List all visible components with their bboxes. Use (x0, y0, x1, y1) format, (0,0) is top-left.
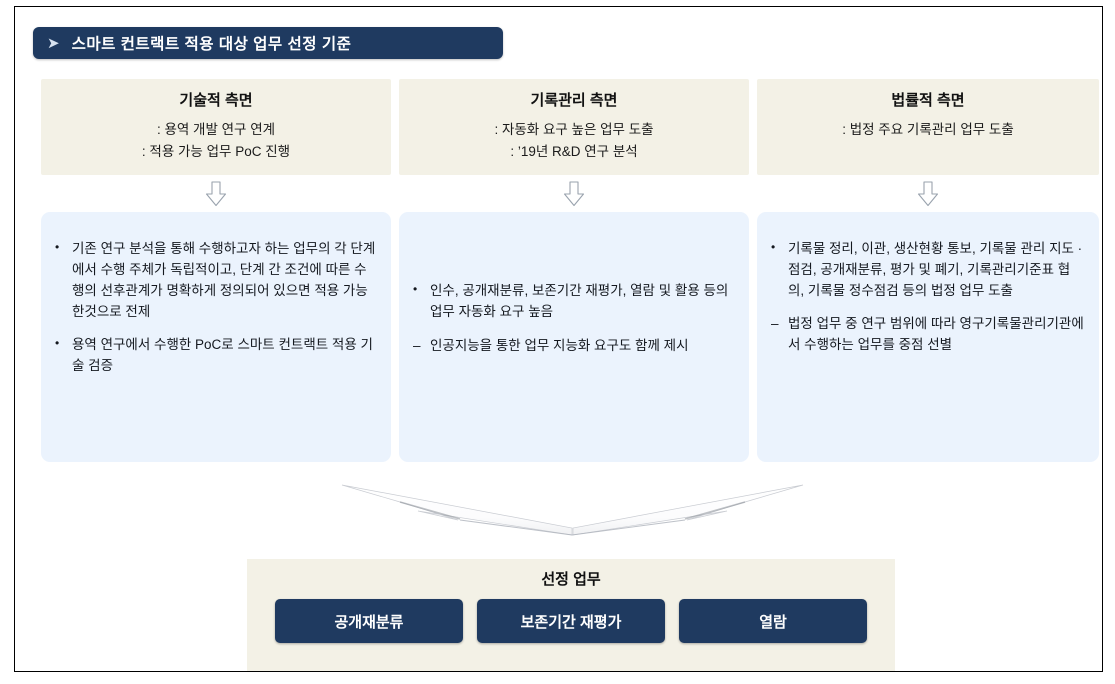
criteria-content-technical: • 기존 연구 분석을 통해 수행하고자 하는 업무의 각 단계에서 수행 주체… (41, 212, 391, 462)
selected-tasks-buttons: 공개재분류 보존기간 재평가 열람 (247, 599, 895, 643)
dash-icon: – (413, 335, 430, 356)
task-button-access[interactable]: 열람 (679, 599, 867, 643)
slide-frame: ➤ 스마트 컨트랙트 적용 대상 업무 선정 기준 기술적 측면 : 용역 개발… (14, 6, 1103, 672)
bullet-icon: • (771, 238, 788, 301)
task-button-retention-reevaluation[interactable]: 보존기간 재평가 (477, 599, 665, 643)
criteria-content-legal: • 기록물 정리, 이관, 생산현황 통보, 기록물 관리 지도 · 점검, 공… (757, 212, 1099, 462)
bullet-icon: • (55, 238, 72, 322)
criteria-line: : 자동화 요구 높은 업무 도출 (494, 119, 653, 141)
criteria-line: : 법정 주요 기록관리 업무 도출 (842, 119, 1014, 141)
bullet-icon: • (413, 280, 430, 322)
criteria-line: : 적용 가능 업무 PoC 진행 (142, 141, 290, 163)
criteria-title: 기술적 측면 (179, 89, 252, 110)
criteria-content-records: • 인수, 공개재분류, 보존기간 재평가, 열람 및 활용 등의 업무 자동화… (399, 212, 749, 462)
criteria-arrow-row (41, 179, 1099, 209)
criteria-header-legal: 법률적 측면 : 법정 주요 기록관리 업무 도출 (757, 79, 1099, 175)
list-item-text: 인수, 공개재분류, 보존기간 재평가, 열람 및 활용 등의 업무 자동화 요… (430, 280, 735, 322)
wide-chevron-down-icon (340, 479, 805, 541)
bullet-icon: • (55, 334, 72, 376)
triangle-right-icon: ➤ (47, 36, 60, 51)
selected-tasks-panel: 선정 업무 공개재분류 보존기간 재평가 열람 (247, 559, 895, 671)
criteria-title: 기록관리 측면 (531, 89, 618, 110)
criteria-line: : ’19년 R&D 연구 분석 (510, 141, 637, 163)
list-item-text: 법정 업무 중 연구 범위에 따라 영구기록물관리기관에서 수행하는 업무를 중… (788, 313, 1085, 355)
list-item: • 인수, 공개재분류, 보존기간 재평가, 열람 및 활용 등의 업무 자동화… (413, 280, 735, 322)
list-item: • 기록물 정리, 이관, 생산현황 통보, 기록물 관리 지도 · 점검, 공… (771, 238, 1085, 301)
list-item: – 인공지능을 통한 업무 지능화 요구도 함께 제시 (413, 335, 735, 356)
list-item-text: 인공지능을 통한 업무 지능화 요구도 함께 제시 (430, 335, 735, 356)
slide-title: 스마트 컨트랙트 적용 대상 업무 선정 기준 (72, 32, 352, 54)
criteria-header-technical: 기술적 측면 : 용역 개발 연구 연계 : 적용 가능 업무 PoC 진행 (41, 79, 391, 175)
criteria-header-records: 기록관리 측면 : 자동화 요구 높은 업무 도출 : ’19년 R&D 연구 … (399, 79, 749, 175)
list-item-text: 용역 연구에서 수행한 PoC로 스마트 컨트랙트 적용 기술 검증 (72, 334, 377, 376)
criteria-content-row: • 기존 연구 분석을 통해 수행하고자 하는 업무의 각 단계에서 수행 주체… (41, 212, 1099, 462)
arrow-down-outline-icon (41, 179, 391, 209)
list-item: • 용역 연구에서 수행한 PoC로 스마트 컨트랙트 적용 기술 검증 (55, 334, 377, 376)
slide-title-bar: ➤ 스마트 컨트랙트 적용 대상 업무 선정 기준 (33, 27, 503, 59)
arrow-down-outline-icon (399, 179, 749, 209)
selected-tasks-title: 선정 업무 (247, 568, 895, 589)
criteria-header-row: 기술적 측면 : 용역 개발 연구 연계 : 적용 가능 업무 PoC 진행 기… (41, 79, 1099, 175)
list-item-text: 기록물 정리, 이관, 생산현황 통보, 기록물 관리 지도 · 점검, 공개재… (788, 238, 1085, 301)
arrow-down-outline-icon (757, 179, 1099, 209)
list-item-text: 기존 연구 분석을 통해 수행하고자 하는 업무의 각 단계에서 수행 주체가 … (72, 238, 377, 322)
list-item: • 기존 연구 분석을 통해 수행하고자 하는 업무의 각 단계에서 수행 주체… (55, 238, 377, 322)
dash-icon: – (771, 313, 788, 355)
criteria-title: 법률적 측면 (891, 89, 964, 110)
list-item: – 법정 업무 중 연구 범위에 따라 영구기록물관리기관에서 수행하는 업무를… (771, 313, 1085, 355)
criteria-line: : 용역 개발 연구 연계 (157, 119, 275, 141)
task-button-public-reclassification[interactable]: 공개재분류 (275, 599, 463, 643)
